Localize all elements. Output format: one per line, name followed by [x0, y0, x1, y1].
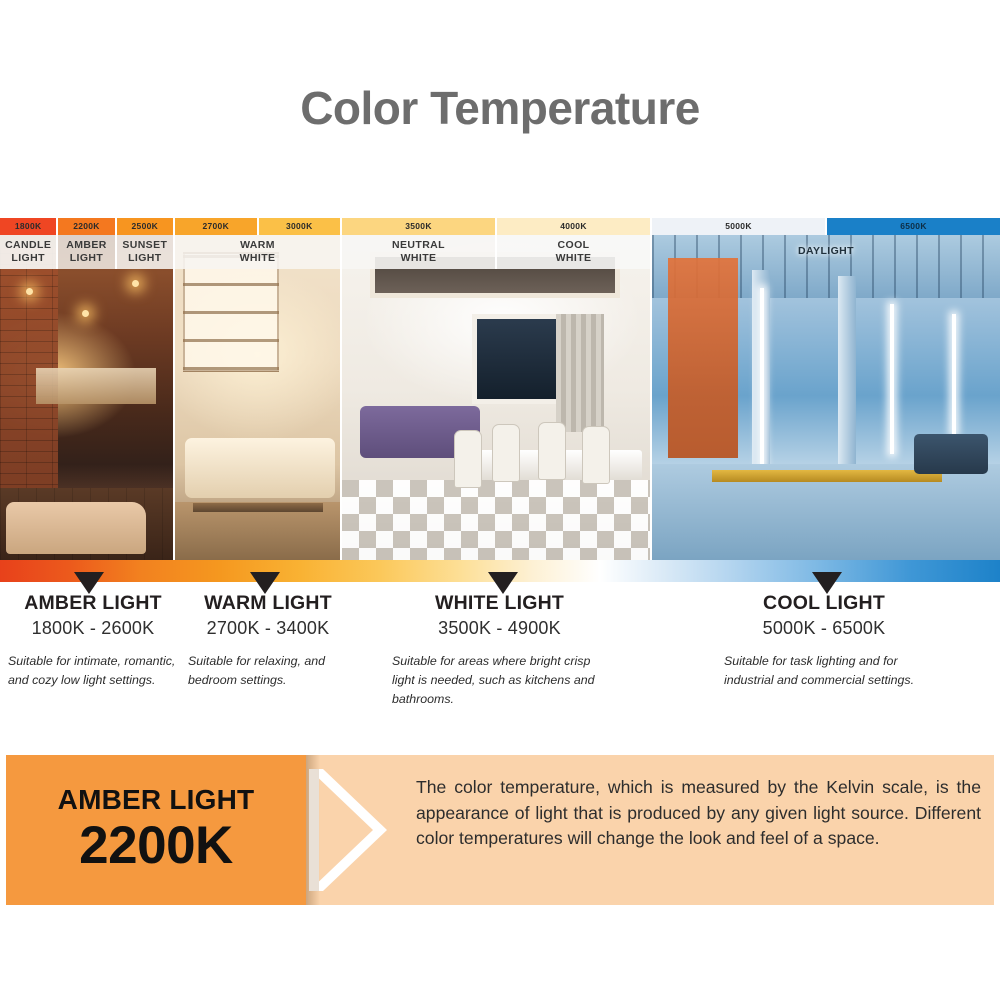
light-name-warm-white: WARM WHITE [175, 235, 340, 269]
warm-white-living-room-photo [175, 218, 340, 560]
light-name-line1: COOL [558, 239, 590, 252]
support-pillar [838, 276, 856, 476]
light-name-candle: CANDLE LIGHT [0, 235, 56, 269]
light-name-amber: AMBER LIGHT [56, 235, 114, 269]
name-row-white: NEUTRAL WHITE COOL WHITE [342, 235, 650, 269]
light-name-sunset: SUNSET LIGHT [115, 235, 173, 269]
light-name-line1: WARM [240, 239, 275, 252]
lounge-sofa [6, 502, 146, 554]
description-title: AMBER LIGHT [8, 592, 178, 615]
kelvin-chip-3000k[interactable]: 3000K [257, 218, 341, 235]
bar-counter [36, 368, 156, 404]
parked-vehicle [914, 434, 988, 474]
pointer-arrow-white [488, 572, 518, 594]
pendant-bulb-icon [132, 280, 139, 287]
dining-chair [492, 424, 520, 482]
dining-chair [454, 430, 482, 488]
light-name-line1: SUNSET [122, 239, 167, 252]
light-name-line2: LIGHT [70, 252, 104, 265]
light-name-line2: WHITE [401, 252, 437, 265]
pendant-bulb-icon [26, 288, 33, 295]
light-name-neutral-white: NEUTRAL WHITE [342, 235, 495, 269]
pendant-bulb-icon [82, 310, 89, 317]
highlight-kelvin-value: 2200K [79, 818, 233, 874]
kelvin-row-white: 3500K 4000K [342, 218, 650, 235]
highlight-label: AMBER LIGHT [58, 786, 255, 814]
kelvin-chip-2500k[interactable]: 2500K [115, 218, 173, 235]
yellow-safety-barrier [712, 470, 942, 482]
fluorescent-tube-light [890, 304, 894, 454]
description-text: Suitable for task lighting and for indus… [724, 652, 924, 690]
kelvin-chip-6500k[interactable]: 6500K [825, 218, 1000, 235]
kelvin-chip-3500k[interactable]: 3500K [342, 218, 495, 235]
description-warm: WARM LIGHT 2700K - 3400K Suitable for re… [188, 592, 348, 690]
kelvin-row-warm: 2700K 3000K [175, 218, 340, 235]
chevron-right-icon [309, 765, 409, 895]
description-text: Suitable for areas where bright crisp li… [392, 652, 607, 709]
kelvin-chip-2700k[interactable]: 2700K [175, 218, 257, 235]
scale-panel-warm[interactable]: 2700K 3000K WARM WHITE [173, 218, 340, 560]
scale-panel-amber[interactable]: 1800K 2200K 2500K CANDLE LIGHT AMBER LIG… [0, 218, 173, 560]
industrial-warehouse-daylight-photo [652, 218, 1000, 560]
light-name-line1: NEUTRAL [392, 239, 445, 252]
scale-panel-white[interactable]: 3500K 4000K NEUTRAL WHITE COOL WHITE [340, 218, 650, 560]
kelvin-row-amber: 1800K 2200K 2500K [0, 218, 173, 235]
color-temperature-scale: 1800K 2200K 2500K CANDLE LIGHT AMBER LIG… [0, 218, 1000, 560]
description-text: Suitable for intimate, romantic, and coz… [8, 652, 178, 690]
light-name-line2: LIGHT [128, 252, 162, 265]
kelvin-chip-4000k[interactable]: 4000K [495, 218, 650, 235]
light-name-line1: CANDLE [5, 239, 51, 252]
highlight-banner-accent-panel: AMBER LIGHT 2200K [6, 755, 306, 905]
light-name-daylight: DAYLIGHT [652, 235, 1000, 269]
page-title: Color Temperature [300, 81, 700, 135]
dining-chair [582, 426, 610, 484]
highlight-banner: AMBER LIGHT 2200K The color temperature,… [6, 755, 994, 905]
light-name-line2: WHITE [240, 252, 276, 265]
curtain [556, 314, 604, 432]
description-title: COOL LIGHT [724, 592, 924, 615]
pointer-arrow-cool [812, 572, 842, 594]
description-title: WARM LIGHT [188, 592, 348, 615]
light-name-line1: DAYLIGHT [798, 245, 854, 258]
light-name-cool-white: COOL WHITE [495, 235, 650, 269]
brick-loft-amber-lit-room-photo [0, 218, 173, 560]
light-name-line2: WHITE [556, 252, 592, 265]
pointer-arrow-amber [74, 572, 104, 594]
kelvin-chip-2200k[interactable]: 2200K [56, 218, 114, 235]
description-range: 3500K - 4900K [392, 618, 607, 639]
description-text: Suitable for relaxing, and bedroom setti… [188, 652, 348, 690]
description-title: WHITE LIGHT [392, 592, 607, 615]
display-shelving [183, 252, 279, 372]
description-range: 1800K - 2600K [8, 618, 178, 639]
name-row-amber: CANDLE LIGHT AMBER LIGHT SUNSET LIGHT [0, 235, 173, 269]
fluorescent-tube-light [760, 288, 764, 468]
light-name-line1: AMBER [66, 239, 107, 252]
coffee-table [193, 503, 323, 512]
scale-panel-cool[interactable]: 5000K 6500K DAYLIGHT [650, 218, 1000, 560]
name-row-cool: DAYLIGHT [652, 235, 1000, 269]
description-amber: AMBER LIGHT 1800K - 2600K Suitable for i… [8, 592, 178, 690]
checker-floor [342, 480, 650, 560]
orange-column-wall [668, 258, 738, 458]
light-name-line2: LIGHT [11, 252, 45, 265]
fluorescent-tube-light [952, 314, 956, 434]
dining-chair [538, 422, 566, 480]
window [472, 314, 568, 404]
kelvin-chip-1800k[interactable]: 1800K [0, 218, 56, 235]
kelvin-row-cool: 5000K 6500K [652, 218, 1000, 235]
description-cool: COOL LIGHT 5000K - 6500K Suitable for ta… [724, 592, 924, 690]
neutral-white-dining-room-photo [342, 218, 650, 560]
description-range: 2700K - 3400K [188, 618, 348, 639]
description-white: WHITE LIGHT 3500K - 4900K Suitable for a… [392, 592, 607, 709]
name-row-warm: WARM WHITE [175, 235, 340, 269]
cream-sofa [185, 438, 335, 498]
description-range: 5000K - 6500K [724, 618, 924, 639]
page-header: Color Temperature [0, 0, 1000, 215]
highlight-banner-body: The color temperature, which is measured… [416, 775, 981, 890]
kelvin-chip-5000k[interactable]: 5000K [652, 218, 825, 235]
pointer-arrow-warm [250, 572, 280, 594]
